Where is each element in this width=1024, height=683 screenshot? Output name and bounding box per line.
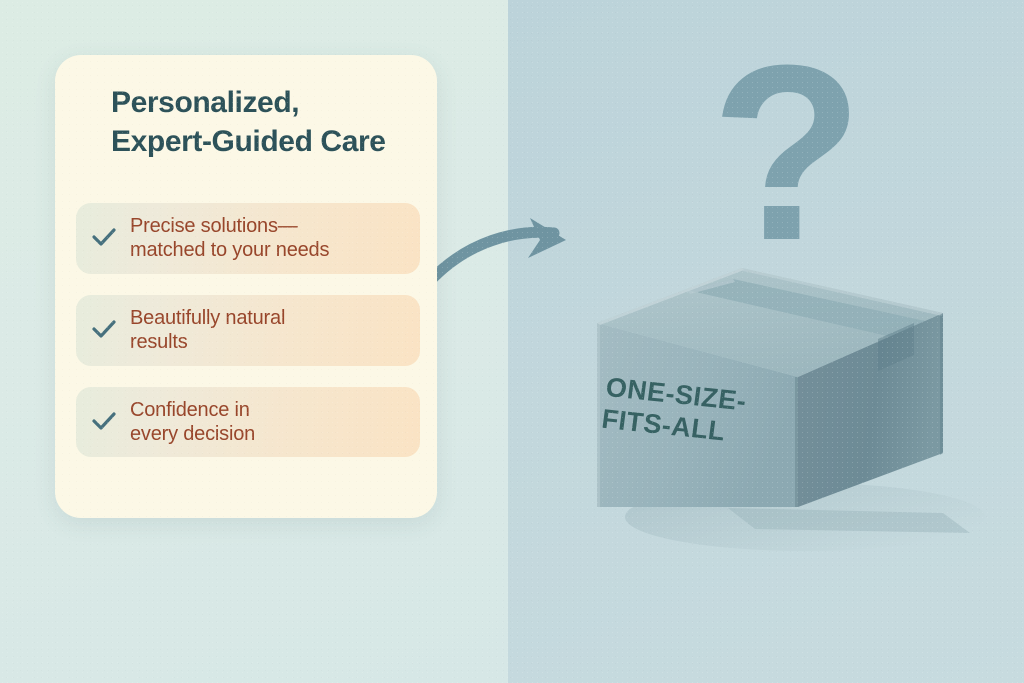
list-item-line2: matched to your needs — [130, 239, 329, 261]
list-item[interactable]: Precise solutions— matched to your needs — [76, 203, 420, 274]
check-icon — [89, 315, 119, 345]
page-title: Personalized, Expert-Guided Care — [111, 83, 421, 161]
page-title-line1: Personalized, — [111, 83, 421, 122]
comparison-graphic: ? — [0, 0, 1024, 683]
page-title-line2: Expert-Guided Care — [111, 122, 421, 161]
list-item-line1: Precise solutions— — [130, 215, 298, 237]
list-item-line1: Beautifully natural — [130, 307, 285, 329]
list-item-label: Confidence in every decision — [130, 398, 255, 447]
question-mark-icon: ? — [697, 28, 877, 278]
benefits-list: Precise solutions— matched to your needs… — [76, 203, 420, 457]
check-icon — [89, 407, 119, 437]
check-icon — [89, 223, 119, 253]
list-item-line2: every decision — [130, 423, 255, 445]
benefits-card: Personalized, Expert-Guided Care Precise… — [55, 55, 437, 518]
list-item-line2: results — [130, 331, 188, 353]
list-item[interactable]: Confidence in every decision — [76, 387, 420, 458]
list-item-label: Beautifully natural results — [130, 306, 285, 355]
list-item-label: Precise solutions— matched to your needs — [130, 214, 329, 263]
list-item-line1: Confidence in — [130, 399, 250, 421]
list-item[interactable]: Beautifully natural results — [76, 295, 420, 366]
